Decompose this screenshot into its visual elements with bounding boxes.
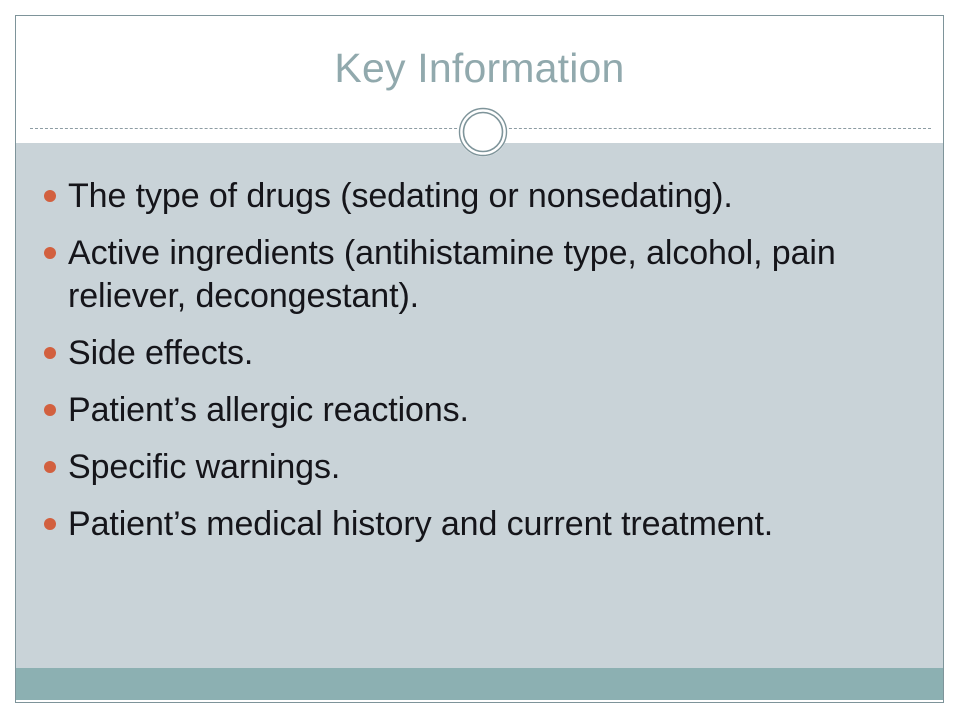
list-item-text: Side effects. [68,332,913,375]
bullet-dot-icon [44,347,56,359]
bullet-dot-icon [44,404,56,416]
presentation-slide: Key Information The type of drugs (sedat… [15,15,944,703]
list-item: Specific warnings. [44,446,913,489]
bullet-dot-icon [44,247,56,259]
slide-footer-bar [16,668,943,700]
page-title: Key Information [16,46,943,91]
bullet-dot-icon [44,461,56,473]
slide-footer-underline [16,700,943,702]
key-information-bullet-list: The type of drugs (sedating or nonsedati… [16,143,943,560]
list-item: The type of drugs (sedating or nonsedati… [44,175,913,218]
list-item-text: Patient’s allergic reactions. [68,389,913,432]
bullet-dot-icon [44,518,56,530]
list-item-text: The type of drugs (sedating or nonsedati… [68,175,913,218]
list-item-text: Active ingredients (antihistamine type, … [68,232,913,318]
list-item: Patient’s allergic reactions. [44,389,913,432]
list-item: Side effects. [44,332,913,375]
list-item: Patient’s medical history and current tr… [44,503,913,546]
bullet-dot-icon [44,190,56,202]
list-item-text: Specific warnings. [68,446,913,489]
list-item: Active ingredients (antihistamine type, … [44,232,913,318]
list-item-text: Patient’s medical history and current tr… [68,503,913,546]
